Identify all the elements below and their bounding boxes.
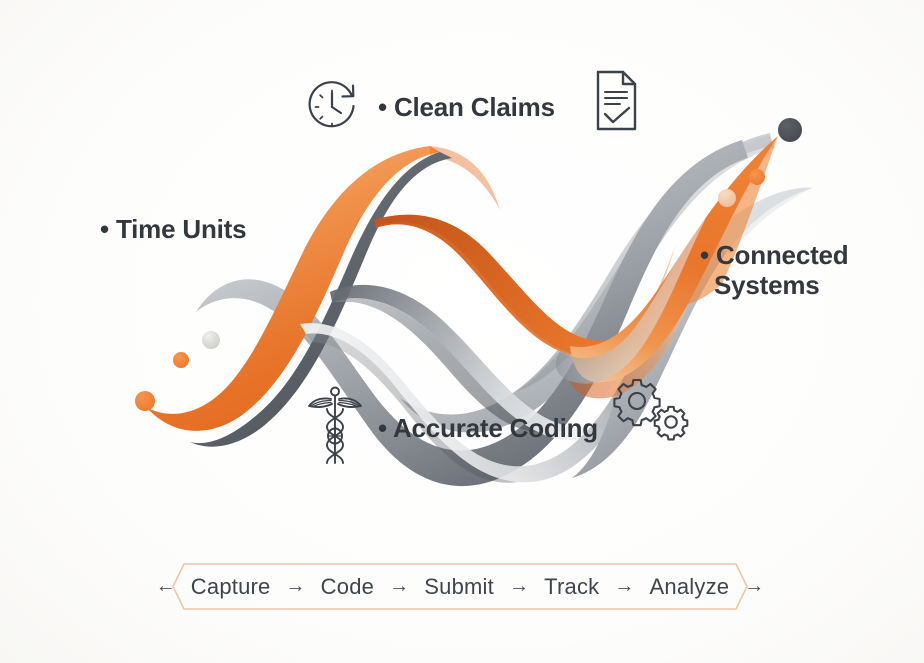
document-check-icon [590, 68, 642, 139]
flow-left-cap-arrow: ← [143, 575, 189, 598]
label-bullet: • [700, 240, 709, 270]
gears-icon [612, 378, 694, 449]
infographic-canvas: • Time Units • Clean Claims • Connected … [0, 0, 924, 663]
clock-history-icon [303, 78, 361, 141]
decorative-dot-right-orange [749, 169, 765, 185]
decorative-dot-right-peach [718, 189, 736, 207]
label-text-connected-line1: Connected [716, 240, 849, 270]
label-time-units: • Time Units [100, 214, 246, 244]
flow-step-track[interactable]: Track [542, 574, 601, 600]
flow-arrow-1: → [272, 575, 318, 598]
flow-step-submit[interactable]: Submit [422, 574, 496, 600]
decorative-dot-left-large-orange [135, 391, 155, 411]
flow-arrow-3: → [496, 575, 542, 598]
label-bullet: • [100, 214, 109, 244]
flow-step-capture[interactable]: Capture [189, 574, 273, 600]
label-clean-claims: • Clean Claims [378, 92, 555, 122]
label-bullet: • [378, 413, 387, 443]
label-bullet: • [378, 92, 387, 122]
ribbon-orange-middle [372, 215, 676, 357]
label-text-time-units: Time Units [116, 214, 246, 244]
ribbon-gray-front [556, 218, 706, 384]
flow-arrow-2: → [376, 575, 422, 598]
caduceus-icon [307, 385, 363, 474]
decorative-dot-left-gray [202, 331, 220, 349]
label-accurate-coding: • Accurate Coding [378, 413, 598, 443]
flow-step-analyze[interactable]: Analyze [648, 574, 732, 600]
decorative-dot-left-small-orange [173, 352, 189, 368]
flow-right-cap-arrow: → [731, 575, 777, 598]
flow-arrow-4: → [601, 575, 647, 598]
label-connected-systems: • Connected Systems [700, 240, 880, 300]
decorative-dot-right-dark [778, 118, 802, 142]
label-text-accurate-coding: Accurate Coding [393, 413, 598, 443]
label-text-connected-line2: Systems [714, 270, 820, 300]
label-text-clean-claims: Clean Claims [394, 92, 555, 122]
flow-step-code[interactable]: Code [319, 574, 376, 600]
process-flow-banner: ← Capture → Code → Submit → Track → Anal… [172, 563, 748, 610]
